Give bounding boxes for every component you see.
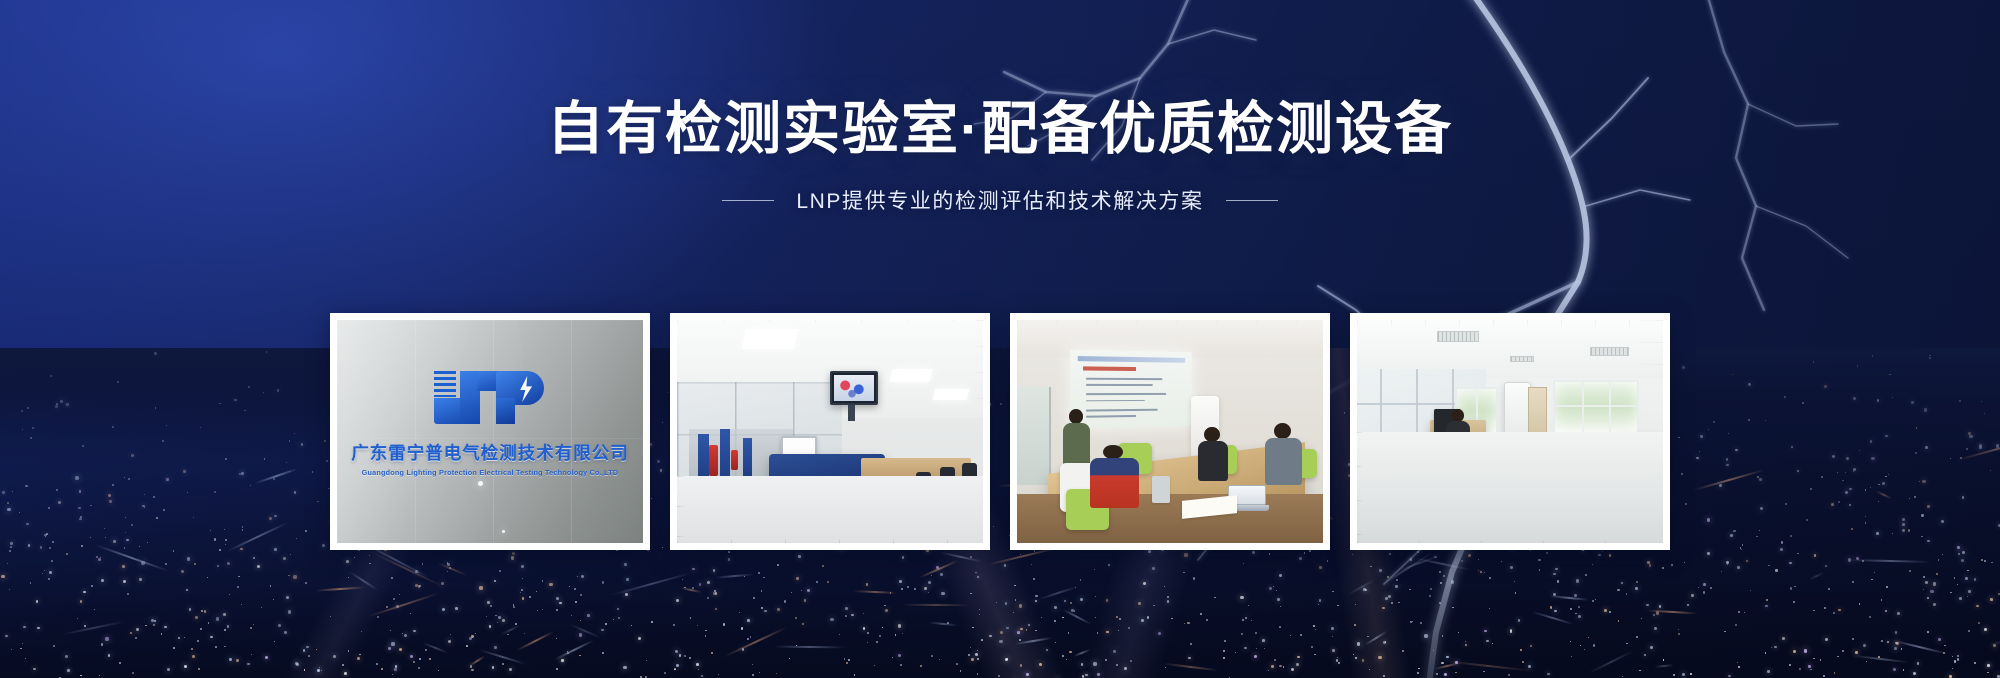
company-sign-block: 广东雷宁普电气检测技术有限公司 Guangdong Lighting Prote… <box>337 368 643 477</box>
ceiling-vent <box>1510 356 1534 363</box>
ceiling-vent <box>1437 331 1480 342</box>
photo-laboratory <box>677 320 983 543</box>
attendee-person-red <box>1090 445 1139 530</box>
ceiling-light-panel <box>742 329 799 349</box>
lab-tiled-floor <box>677 476 983 543</box>
water-bottle <box>1152 476 1170 503</box>
photo-frame-meeting-room[interactable] <box>1010 313 1330 550</box>
monitor-mount <box>848 405 855 421</box>
rule-right-icon <box>1226 200 1278 201</box>
photo-office <box>1357 320 1663 543</box>
office-window <box>1553 380 1639 434</box>
photo-frame-office[interactable] <box>1350 313 1670 550</box>
office-tiled-floor <box>1357 432 1663 544</box>
photo-frame-laboratory[interactable] <box>670 313 990 550</box>
subtitle-row: LNP提供专业的检测评估和技术解决方案 <box>0 185 2000 215</box>
company-name-en: Guangdong Lighting Protection Electrical… <box>337 468 643 477</box>
page-subtitle: LNP提供专业的检测评估和技术解决方案 <box>796 185 1203 215</box>
rule-left-icon <box>722 200 774 201</box>
ceiling-light-panel <box>933 389 969 400</box>
floor-light-reflection <box>502 530 505 533</box>
photo-frame-company-sign[interactable]: 广东雷宁普电气检测技术有限公司 Guangdong Lighting Prote… <box>330 313 650 550</box>
banner-copy: 自有检测实验室·配备优质检测设备 LNP提供专业的检测评估和技术解决方案 <box>0 96 2000 215</box>
photo-strip: 广东雷宁普电气检测技术有限公司 Guangdong Lighting Prote… <box>330 313 1670 550</box>
hero-banner: 自有检测实验室·配备优质检测设备 LNP提供专业的检测评估和技术解决方案 <box>0 0 2000 678</box>
attendee-person-left <box>1198 427 1229 481</box>
page-title: 自有检测实验室·配备优质检测设备 <box>0 96 2000 163</box>
lnp-logo-icon <box>434 368 546 426</box>
company-name-cn: 广东雷宁普电气检测技术有限公司 <box>337 440 643 465</box>
meeting-door <box>1017 387 1051 485</box>
photo-company-sign: 广东雷宁普电气检测技术有限公司 Guangdong Lighting Prote… <box>337 320 643 543</box>
lab-wall-monitor <box>830 371 878 405</box>
ceiling-light-panel <box>890 369 933 382</box>
ceiling-light-reflection <box>478 481 483 486</box>
photo-meeting-room <box>1017 320 1323 543</box>
attendee-person-right <box>1265 423 1302 485</box>
ceiling-vent <box>1590 347 1630 356</box>
